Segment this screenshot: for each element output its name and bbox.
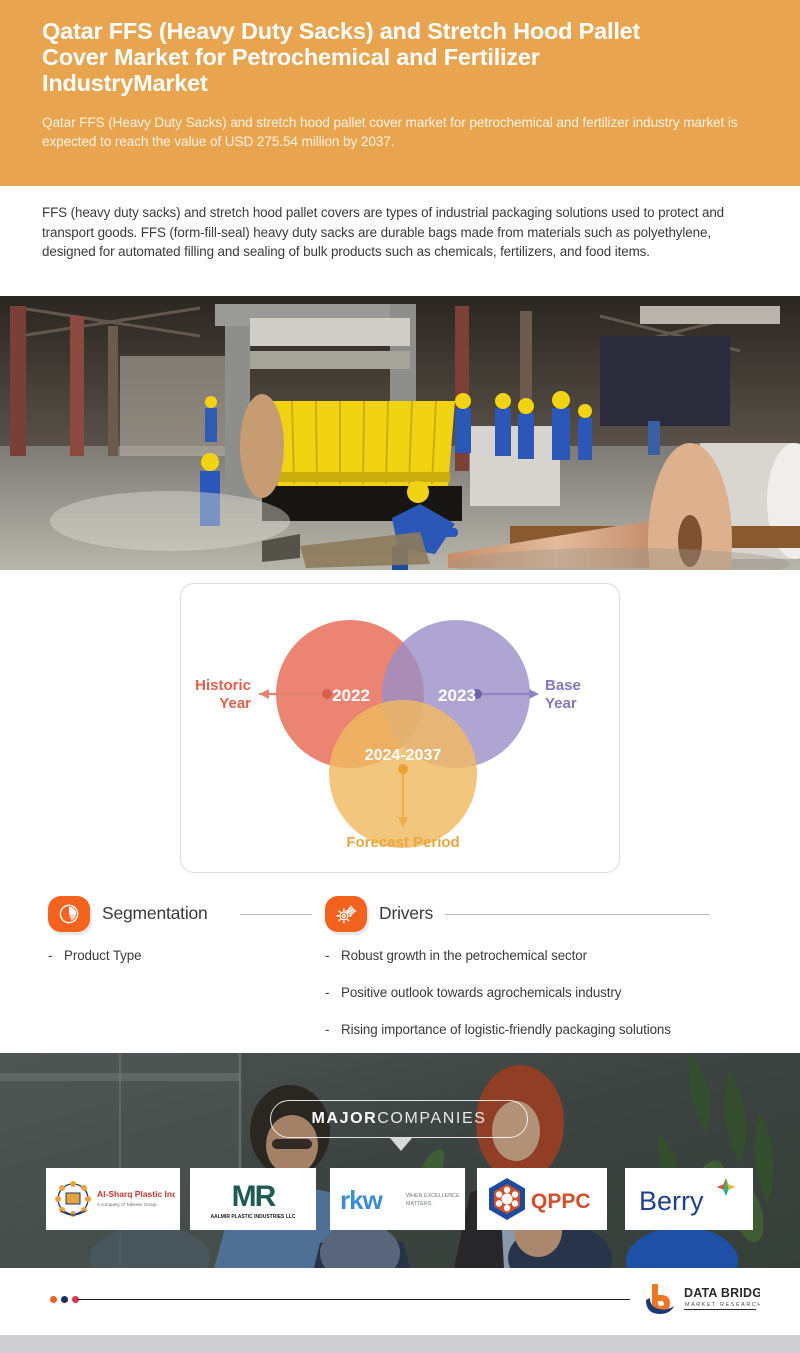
factory-illustration <box>0 296 800 570</box>
office-photo-background <box>0 1053 800 1268</box>
timeline-venn-card: 2022 2023 2024-2037 Historic Year Base Y… <box>180 583 620 873</box>
segmentation-drivers-row: Segmentation -Product Type <box>0 893 800 1043</box>
drivers-title: Drivers <box>379 903 433 924</box>
caption-caret-icon <box>390 1138 412 1151</box>
venn-diagram: 2022 2023 2024-2037 Historic Year Base Y… <box>181 584 619 872</box>
logo-name: QPPC <box>531 1190 591 1213</box>
aalmir-mr-logo: MR AALMIR PLASTIC INDUSTRIES LLC <box>194 1173 312 1225</box>
drivers-item-label: Positive outlook towards agrochemicals i… <box>341 985 621 1000</box>
logo-name: MR <box>232 1180 277 1213</box>
data-bridge-mark: DATA BRIDGE MARKET RESEARCH <box>640 1280 760 1320</box>
logo-name: Al-Sharq Plastic Industries <box>97 1189 175 1199</box>
venn-callout-forecast: Forecast Period <box>346 834 459 851</box>
major-companies-caption: MAJOR COMPANIES <box>270 1100 528 1138</box>
page-title: Qatar FFS (Heavy Duty Sacks) and Stretch… <box>42 18 642 96</box>
data-bridge-logo[interactable]: DATA BRIDGE MARKET RESEARCH <box>640 1280 760 1320</box>
footer-dot-orange <box>50 1296 57 1303</box>
company-logo-card-1[interactable]: MR AALMIR PLASTIC INDUSTRIES LLC <box>190 1168 316 1230</box>
venn-callout-historic-line2: Year <box>219 695 251 712</box>
logo-tagline-line2: MATTERS. <box>406 1201 433 1207</box>
drivers-item-0: -Robust growth in the petrochemical sect… <box>325 948 587 963</box>
company-logo-card-4[interactable]: Berry <box>625 1168 753 1230</box>
major-companies-band: MAJOR COMPANIES Al-Sharq Plastic Industr… <box>0 1053 800 1268</box>
caption-bold: MAJOR <box>311 1110 377 1128</box>
caption-light: COMPANIES <box>377 1110 486 1128</box>
venn-label-2022: 2022 <box>332 686 370 705</box>
pie-chart-icon <box>58 903 80 925</box>
header-banner: Qatar FFS (Heavy Duty Sacks) and Stretch… <box>0 0 800 186</box>
company-logo-card-0[interactable]: Al-Sharq Plastic Industries A company of… <box>46 1168 180 1230</box>
drivers-item-2: -Rising importance of logistic-friendly … <box>325 1022 671 1037</box>
drivers-item-label: Robust growth in the petrochemical secto… <box>341 948 587 963</box>
venn-callout-historic-line1: Historic <box>195 677 251 694</box>
brand-line1: DATA BRIDGE <box>684 1286 760 1300</box>
logo-tagline: A company of Tabeeer Group <box>97 1202 157 1207</box>
segmentation-title: Segmentation <box>102 903 208 924</box>
header-subtitle: Qatar FFS (Heavy Duty Sacks) and stretch… <box>42 113 742 151</box>
intro-paragraph: FFS (heavy duty sacks) and stretch hood … <box>42 203 742 262</box>
footer-divider <box>78 1299 630 1300</box>
venn-label-forecast-years: 2024-2037 <box>365 747 442 764</box>
berry-logo: Berry <box>629 1176 749 1222</box>
drivers-item-1: -Positive outlook towards agrochemicals … <box>325 985 621 1000</box>
bullet-dash: - <box>325 948 341 963</box>
company-logo-card-2[interactable]: rkw WHEN EXCELLENCE MATTERS. <box>330 1168 465 1230</box>
brand-line2: MARKET RESEARCH <box>685 1302 760 1308</box>
venn-callout-base-line1: Base <box>545 677 581 694</box>
logo-name: Berry <box>639 1186 704 1216</box>
logo-tagline-line1: WHEN EXCELLENCE <box>406 1193 460 1199</box>
drivers-rule <box>445 914 710 915</box>
venn-callout-base-line2: Year <box>545 695 577 712</box>
bullet-dash: - <box>325 985 341 1000</box>
segmentation-icon-pill <box>48 896 90 932</box>
alsharq-plastic-logo: Al-Sharq Plastic Industries A company of… <box>51 1175 175 1223</box>
qppc-logo: QPPC <box>481 1174 603 1224</box>
footer-dot-navy <box>61 1296 68 1303</box>
bottom-gray-bar <box>0 1335 800 1353</box>
venn-label-2023: 2023 <box>438 686 476 705</box>
bullet-dash: - <box>48 948 64 963</box>
company-logo-card-3[interactable]: QPPC <box>477 1168 607 1230</box>
berry-star-icon <box>717 1178 735 1196</box>
segmentation-item-0: -Product Type <box>48 948 141 963</box>
drivers-item-label: Rising importance of logistic-friendly p… <box>341 1022 671 1037</box>
intro-section: FFS (heavy duty sacks) and stretch hood … <box>42 203 742 262</box>
infographic-page: Qatar FFS (Heavy Duty Sacks) and Stretch… <box>0 0 800 1353</box>
rkw-logo: rkw WHEN EXCELLENCE MATTERS. <box>334 1177 462 1221</box>
drivers-icon-pill <box>325 896 367 932</box>
segmentation-rule <box>240 914 312 915</box>
gears-icon <box>335 903 358 926</box>
segmentation-item-label: Product Type <box>64 948 141 963</box>
logo-tagline: AALMIR PLASTIC INDUSTRIES LLC <box>211 1214 296 1220</box>
hero-photo <box>0 296 800 570</box>
bullet-dash: - <box>325 1022 341 1037</box>
logo-name: rkw <box>340 1185 384 1215</box>
footer-dots <box>50 1296 79 1303</box>
